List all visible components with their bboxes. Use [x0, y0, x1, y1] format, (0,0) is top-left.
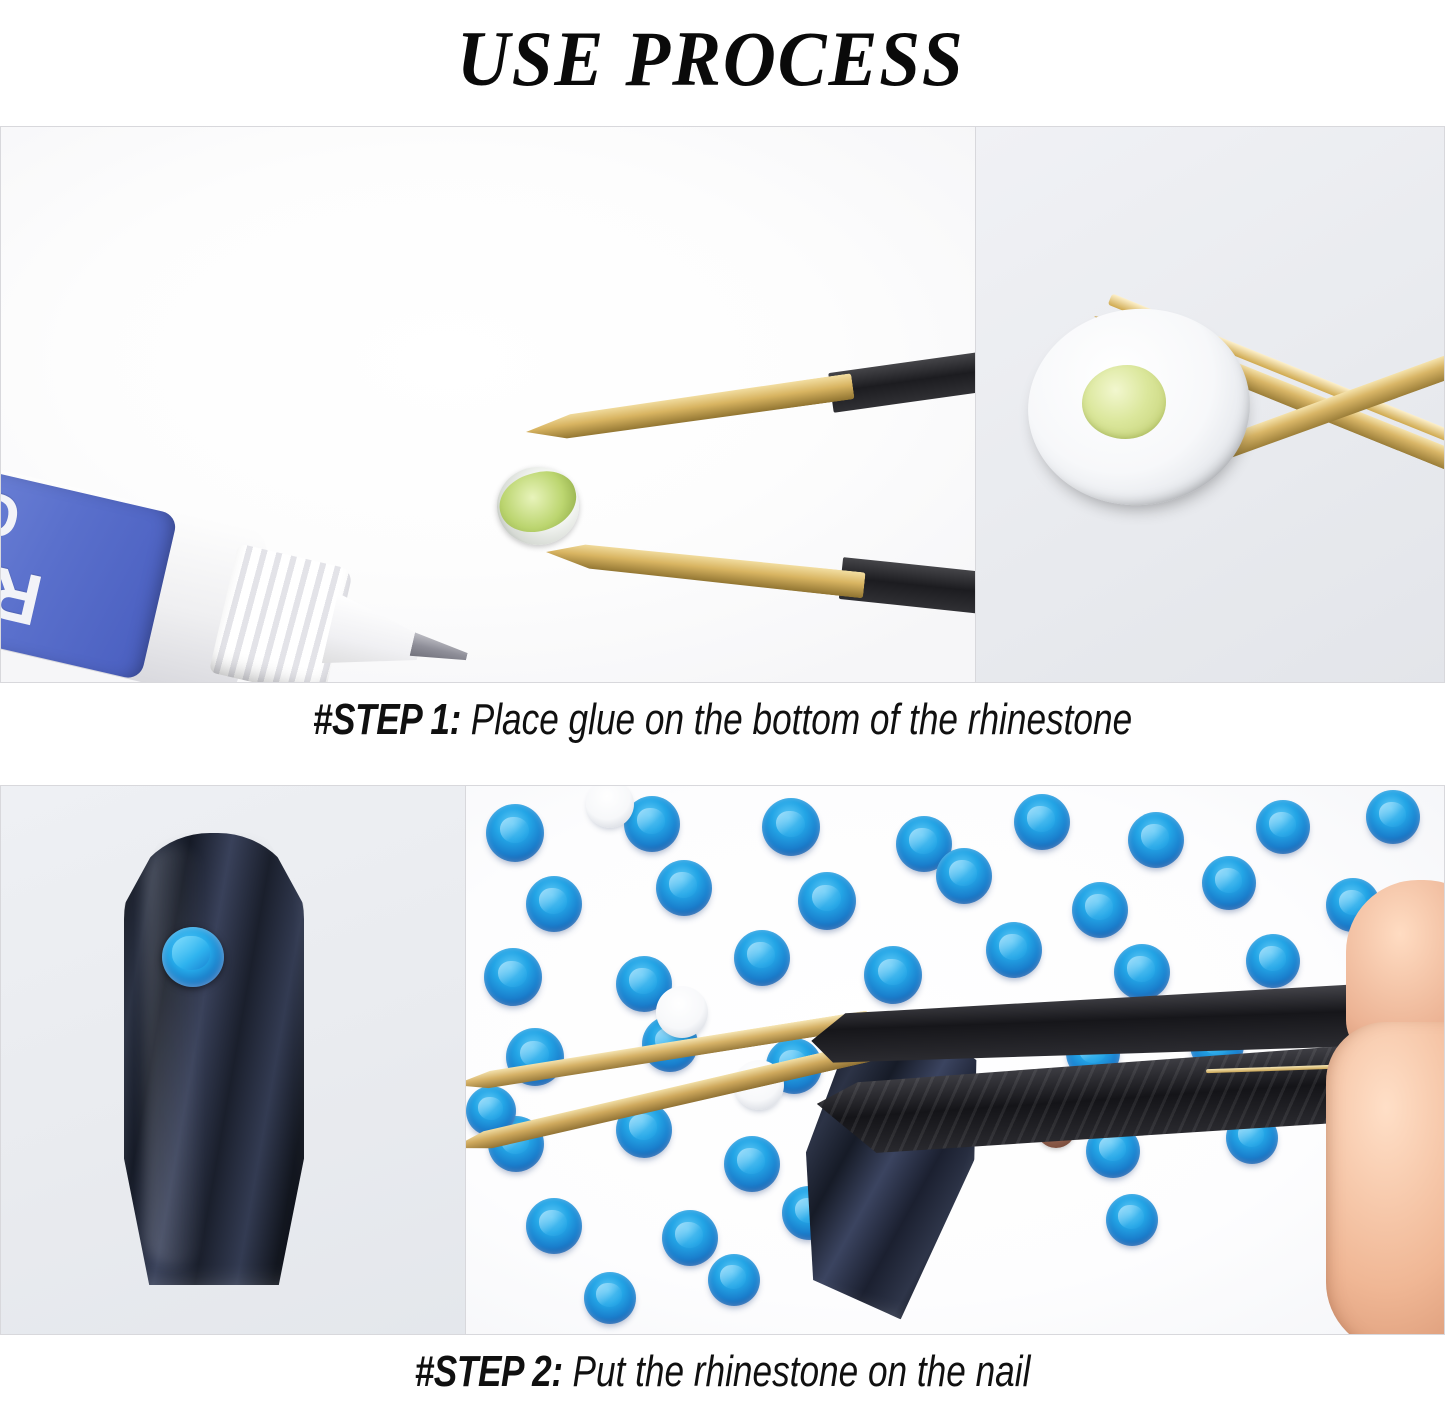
rhinestone-blue [1128, 812, 1184, 868]
rhinestone-blue [526, 1198, 582, 1254]
rhinestone-blue [526, 876, 582, 932]
glue-label-text-top: G [0, 476, 27, 553]
rhinestone-blue [1366, 790, 1420, 844]
finished-nail-photo [0, 785, 465, 1335]
rhinestone-blue [762, 798, 820, 856]
page-title: USE PROCESS [457, 20, 987, 98]
step2-label: #STEP 2: [415, 1347, 563, 1396]
rhinestone-tray-photo [465, 785, 1445, 1335]
rhinestone-blue [1072, 882, 1128, 938]
rhinestone-facet [172, 936, 210, 970]
rhinestone-blue [724, 1136, 780, 1192]
rhinestone-blue [798, 872, 856, 930]
rhinestone-blue [1256, 800, 1310, 854]
nail-highlight [144, 846, 204, 1266]
rhinestone-blue [936, 848, 992, 904]
rhinestone-blue [1202, 856, 1256, 910]
step1-text: Place glue on the bottom of the rhinesto… [461, 695, 1132, 744]
glue-bottle-cone [322, 593, 428, 683]
glue-drop [1082, 365, 1166, 439]
rhinestone-blue [1106, 1194, 1158, 1246]
glue-application-photo: G Rh [0, 126, 975, 683]
rhinestone-blue [1114, 944, 1170, 1000]
rhinestone-blue [1246, 934, 1300, 988]
rhinestone-flat-back [656, 986, 708, 1038]
step2-caption: #STEP 2: Put the rhinestone on the nail [145, 1350, 1301, 1394]
rhinestone-blue [486, 804, 544, 862]
step2-text: Put the rhinestone on the nail [563, 1347, 1031, 1396]
rhinestone-blue [584, 1272, 636, 1324]
title-bar: USE PROCESS [0, 0, 1445, 118]
step1-caption: #STEP 1: Place glue on the bottom of the… [145, 698, 1301, 742]
rhinestone-blue [484, 948, 542, 1006]
step2-photo-row [0, 785, 1445, 1335]
rhinestone-blue [864, 946, 922, 1004]
rhinestone-blue [734, 930, 790, 986]
rhinestone-blue [986, 922, 1042, 978]
thumb [1326, 1022, 1445, 1335]
step1-label: #STEP 1: [313, 695, 461, 744]
step1-photo-row: G Rh [0, 126, 1445, 683]
rhinestone-blue [656, 860, 712, 916]
rhinestone-blue [1014, 794, 1070, 850]
rhinestone-blue [708, 1254, 760, 1306]
glue-label-text-bottom: Rh [0, 541, 50, 641]
rhinestone-blue [662, 1210, 718, 1266]
glued-rhinestone-photo [975, 126, 1445, 683]
